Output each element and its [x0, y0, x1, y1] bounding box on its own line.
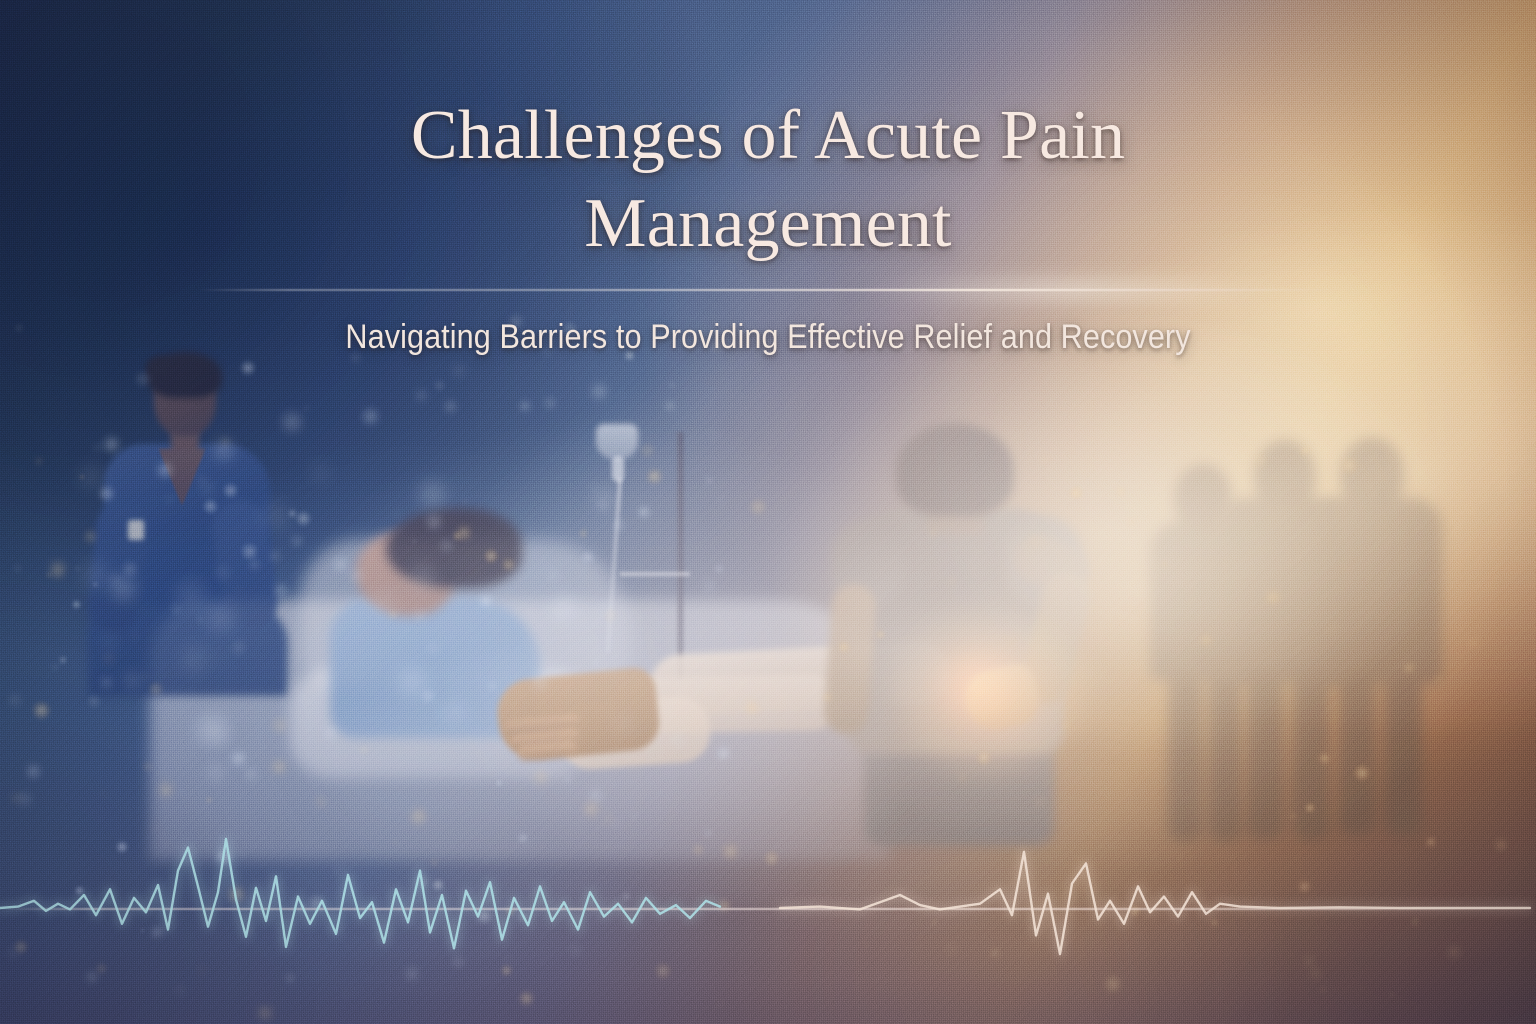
title-line-2: Management — [0, 180, 1536, 268]
title-block: Challenges of Acute Pain Management — [0, 0, 1536, 268]
page-title: Challenges of Acute Pain Management — [0, 0, 1536, 268]
subtitle: Navigating Barriers to Providing Effecti… — [77, 318, 1459, 357]
divider — [198, 289, 1340, 291]
title-line-1: Challenges of Acute Pain — [0, 92, 1536, 180]
title-slide: Challenges of Acute Pain Management Navi… — [0, 0, 1536, 1024]
